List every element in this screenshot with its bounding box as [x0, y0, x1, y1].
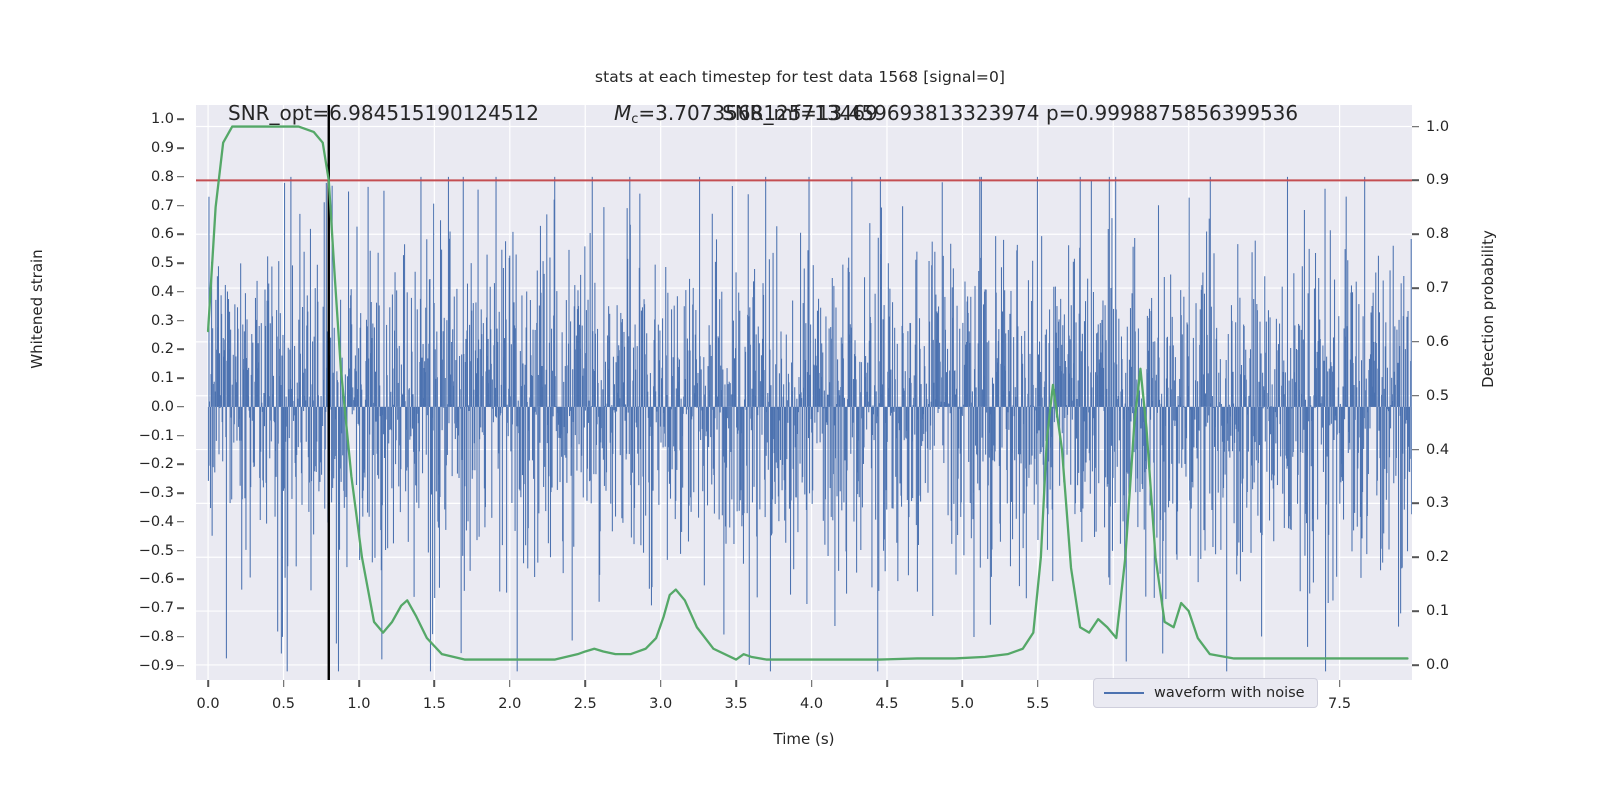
y-axis-right-tick-label: 0.8: [1426, 226, 1449, 242]
plot-area: [196, 105, 1412, 680]
y-axis-left-tick-label: 0.2: [151, 341, 174, 357]
y-axis-right-tick-mark: [1412, 449, 1419, 451]
y-axis-right-tick-label: 0.5: [1426, 388, 1449, 404]
y-axis-left-tick-label: 0.9: [151, 140, 174, 156]
y-axis-left-tick-mark: [177, 636, 184, 638]
y-axis-left-tick-mark: [177, 119, 184, 121]
y-axis-right-tick-mark: [1412, 664, 1419, 666]
y-axis-left-tick-mark: [177, 147, 184, 149]
y-axis-left-tick-label: 0.8: [151, 169, 174, 185]
y-axis-left-tick-label: −0.9: [139, 658, 174, 674]
y-axis-left-tick-label: 0.0: [151, 399, 174, 415]
y-axis-right-tick-label: 0.1: [1426, 603, 1449, 619]
y-axis-left-tick-mark: [177, 377, 184, 379]
y-axis-left-tick-label: 0.5: [151, 255, 174, 271]
y-axis-left-tick-mark: [177, 234, 184, 236]
y-axis-left-tick-mark: [177, 492, 184, 494]
y-axis-left-tick-label: −0.3: [139, 485, 174, 501]
x-axis-tick-label: 3.5: [725, 696, 748, 712]
y-axis-right-tick-label: 0.9: [1426, 172, 1449, 188]
y-axis-left-tick-label: −0.8: [139, 629, 174, 645]
y-axis-right-tick-mark: [1412, 503, 1419, 505]
x-axis-tick-label: 2.5: [574, 696, 597, 712]
waveform-with-noise-series: [208, 177, 1411, 672]
y-axis-left-tick-label: −0.4: [139, 514, 174, 530]
chart-title: stats at each timestep for test data 156…: [0, 68, 1600, 86]
x-axis-tick-mark: [584, 680, 586, 687]
y-axis-right-tick-mark: [1412, 341, 1419, 343]
x-axis-tick-mark: [811, 680, 813, 687]
y-axis-right-tick-mark: [1412, 610, 1419, 612]
y-axis-right-tick-mark: [1412, 556, 1419, 558]
x-axis-tick-mark: [962, 680, 964, 687]
y-axis-left-tick-mark: [177, 349, 184, 351]
x-axis-tick-label: 5.0: [951, 696, 974, 712]
y-axis-right-tick-label: 0.7: [1426, 280, 1449, 296]
y-axis-left-tick-mark: [177, 205, 184, 207]
legend-line-icon: [1104, 692, 1144, 694]
y-axis-left: 1.00.90.80.70.60.50.40.30.20.10.0−0.1−0.…: [120, 105, 184, 680]
x-axis-tick-mark: [1339, 680, 1341, 687]
x-axis-tick-label: 2.0: [498, 696, 521, 712]
y-axis-right-label: Detection probability: [1479, 209, 1497, 409]
y-axis-left-tick-mark: [177, 435, 184, 437]
x-axis-tick-mark: [434, 680, 436, 687]
y-axis-left-tick-mark: [177, 665, 184, 667]
annotation-detection-probability: p=0.9998875856399536: [1046, 101, 1298, 125]
x-axis-tick-mark: [358, 680, 360, 687]
x-axis-tick-mark: [509, 680, 511, 687]
y-axis-left-tick-label: 0.1: [151, 370, 174, 386]
y-axis-right-tick-label: 0.2: [1426, 549, 1449, 565]
legend: waveform with noise: [1093, 678, 1318, 708]
y-axis-right-tick-mark: [1412, 233, 1419, 235]
y-axis-right-tick-mark: [1412, 287, 1419, 289]
x-axis-tick-mark: [207, 680, 209, 687]
x-axis-tick-mark: [886, 680, 888, 687]
y-axis-left-tick-mark: [177, 521, 184, 523]
y-axis-left-tick-mark: [177, 550, 184, 552]
y-axis-right: 1.00.90.80.70.60.50.40.30.20.10.0: [1412, 105, 1482, 680]
annotation-snr-opt: SNR_opt=6.984515190124512: [228, 101, 539, 125]
annotation-snr-mf: SNR_mf=13.459693813323974: [722, 101, 1040, 125]
y-axis-right-tick-label: 0.4: [1426, 442, 1449, 458]
x-axis-tick-label: 1.5: [423, 696, 446, 712]
y-axis-left-tick-mark: [177, 262, 184, 264]
x-axis-tick-mark: [660, 680, 662, 687]
x-axis-tick-label: 0.0: [197, 696, 220, 712]
chirp-mass-symbol: M: [614, 101, 631, 125]
y-axis-left-tick-label: 0.3: [151, 313, 174, 329]
y-axis-left-tick-label: −0.2: [139, 456, 174, 472]
y-axis-left-tick-label: −0.6: [139, 571, 174, 587]
y-axis-right-tick-label: 0.6: [1426, 334, 1449, 350]
x-axis-tick-mark: [735, 680, 737, 687]
y-axis-left-tick-mark: [177, 176, 184, 178]
x-axis-tick-label: 7.5: [1328, 696, 1351, 712]
figure-canvas: stats at each timestep for test data 156…: [0, 0, 1600, 800]
y-axis-right-tick-label: 0.3: [1426, 495, 1449, 511]
x-axis-tick-label: 4.5: [875, 696, 898, 712]
y-axis-left-tick-label: −0.5: [139, 543, 174, 559]
y-axis-left-tick-label: −0.1: [139, 428, 174, 444]
x-axis-tick-label: 3.0: [649, 696, 672, 712]
y-axis-right-tick-label: 1.0: [1426, 119, 1449, 135]
y-axis-right-tick-mark: [1412, 126, 1419, 128]
x-axis-tick-label: 1.0: [347, 696, 370, 712]
x-axis-tick-label: 4.0: [800, 696, 823, 712]
x-axis-tick-label: 0.5: [272, 696, 295, 712]
x-axis-label: Time (s): [196, 730, 1412, 748]
y-axis-left-tick-mark: [177, 291, 184, 293]
y-axis-right-tick-mark: [1412, 395, 1419, 397]
y-axis-left-label: Whitened strain: [28, 209, 46, 409]
y-axis-left-tick-label: 0.4: [151, 284, 174, 300]
y-axis-left-tick-mark: [177, 579, 184, 581]
legend-label-waveform: waveform with noise: [1154, 685, 1305, 701]
y-axis-left-tick-mark: [177, 406, 184, 408]
y-axis-right-tick-label: 0.0: [1426, 657, 1449, 673]
y-axis-left-tick-mark: [177, 607, 184, 609]
x-axis-tick-mark: [1037, 680, 1039, 687]
x-axis-tick-mark: [283, 680, 285, 687]
x-axis-tick-label: 5.5: [1026, 696, 1049, 712]
y-axis-left-tick-label: 0.7: [151, 198, 174, 214]
y-axis-left-tick-mark: [177, 320, 184, 322]
y-axis-left-tick-label: −0.7: [139, 600, 174, 616]
plot-svg: [196, 105, 1412, 680]
y-axis-left-tick-label: 0.6: [151, 226, 174, 242]
y-axis-left-tick-mark: [177, 464, 184, 466]
y-axis-right-tick-mark: [1412, 180, 1419, 182]
y-axis-left-tick-label: 1.0: [151, 111, 174, 127]
